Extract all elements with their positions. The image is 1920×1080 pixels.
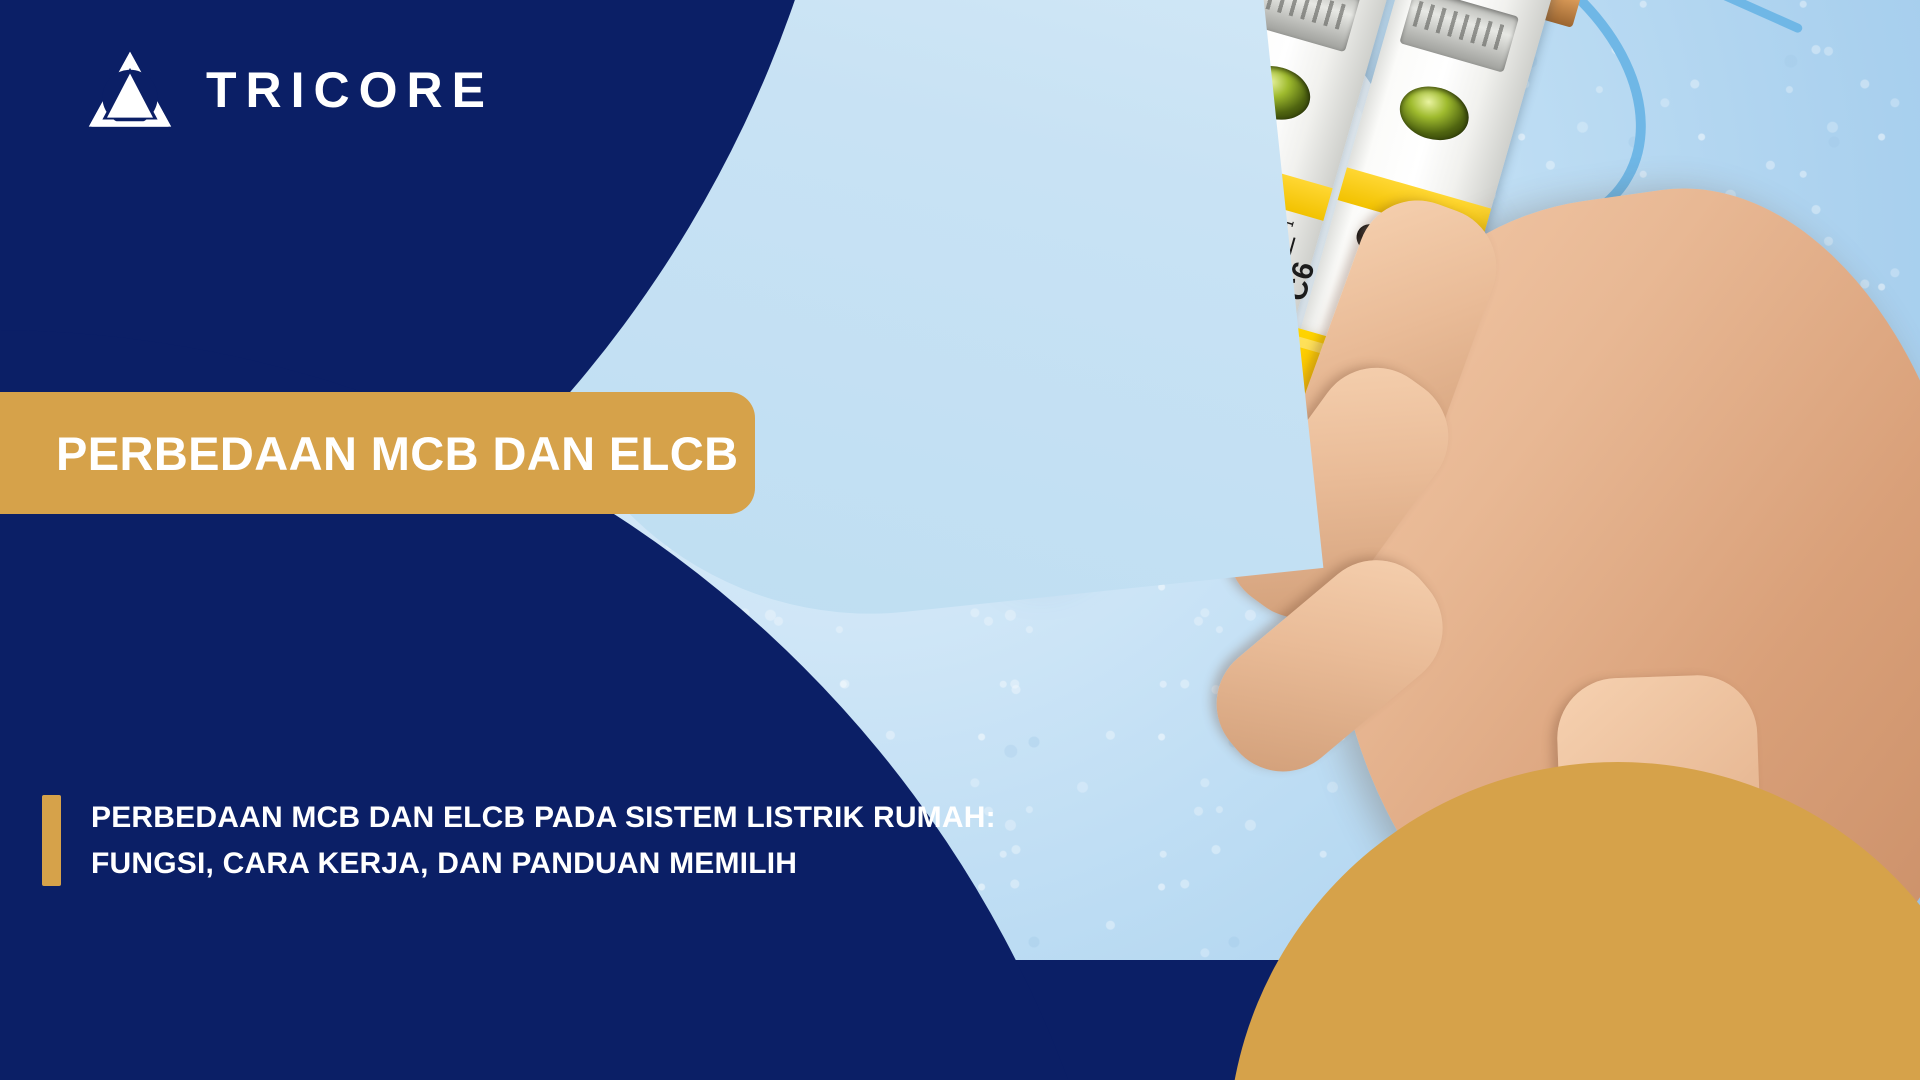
subtitle-line-1: PERBEDAAN MCB DAN ELCB PADA SISTEM LISTR…: [91, 801, 996, 834]
mcb-terminal-window: [1399, 0, 1519, 73]
subtitle-line-2: FUNGSI, CARA KERJA, DAN PANDUAN MEMILIH: [91, 841, 996, 887]
subtitle-accent-bar: [42, 795, 61, 886]
mcb-indicator: [1393, 79, 1475, 148]
page-title: PERBEDAAN MCB DAN ELCB: [56, 430, 738, 477]
subtitle: PERBEDAAN MCB DAN ELCB PADA SISTEM LISTR…: [91, 795, 996, 886]
subtitle-block: PERBEDAAN MCB DAN ELCB PADA SISTEM LISTR…: [42, 795, 996, 886]
brand-logo[interactable]: TRICORE: [84, 44, 494, 136]
title-banner: PERBEDAAN MCB DAN ELCB: [0, 392, 755, 514]
brand-name: TRICORE: [206, 65, 494, 115]
banner-canvas: C16 230/400V~ 4500 3 1 2: [0, 0, 1920, 1080]
tricore-triangle-circle-logo: [84, 44, 176, 136]
